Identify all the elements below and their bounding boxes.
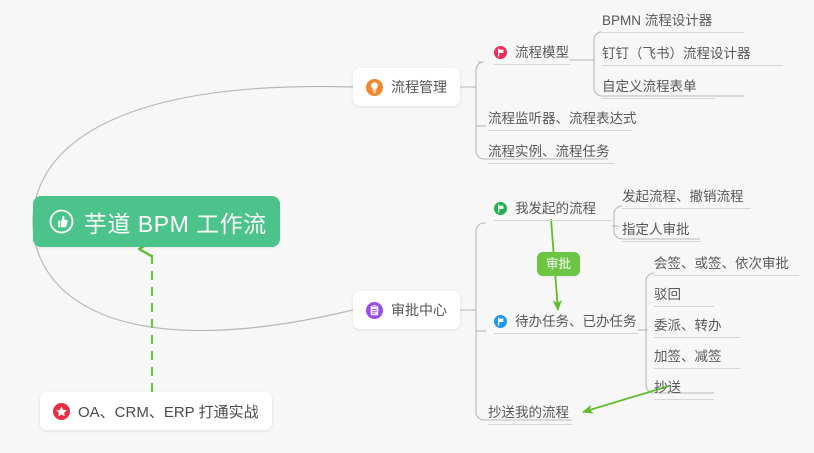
node-zidingyi-biaodan[interactable]: 自定义流程表单 xyxy=(602,78,715,99)
node-label-chaosong-wode-liucheng: 抄送我的流程 xyxy=(488,404,569,421)
node-chaosong-wode-liucheng[interactable]: 抄送我的流程 xyxy=(488,404,572,425)
node-chaosong[interactable]: 抄送 xyxy=(654,379,714,400)
node-jianting-biaodashi[interactable]: 流程监听器、流程表达式 xyxy=(488,110,632,131)
flag-icon xyxy=(494,202,507,215)
node-label-liucheng-moxing: 流程模型 xyxy=(515,44,569,61)
node-label-zidingyi-biaodan: 自定义流程表单 xyxy=(602,78,697,95)
thumbs-up-icon xyxy=(49,209,74,234)
node-label-bohui: 驳回 xyxy=(654,286,681,303)
node-huiqian-huoqian-yici[interactable]: 会签、或签、依次审批 xyxy=(654,255,799,276)
node-label-jianting-biaodashi: 流程监听器、流程表达式 xyxy=(488,110,637,127)
annotation-tag-shenpi-label: 审批 xyxy=(546,257,571,271)
node-wo-faqi-de-liucheng[interactable]: 我发起的流程 xyxy=(494,200,612,221)
node-label-daiban-yiban-renwu: 待办任务、已办任务 xyxy=(515,313,637,330)
node-label-jiaqian-jianqian: 加签、减签 xyxy=(654,348,722,365)
node-label-huiqian-huoqian-yici: 会签、或签、依次审批 xyxy=(654,255,789,272)
node-liucheng-moxing[interactable]: 流程模型 xyxy=(494,44,570,65)
node-bohui[interactable]: 驳回 xyxy=(654,286,714,307)
flag-icon xyxy=(494,46,507,59)
node-jiaqian-jianqian[interactable]: 加签、减签 xyxy=(654,348,740,369)
node-shili-renwu[interactable]: 流程实例、流程任务 xyxy=(488,143,614,164)
node-label-faqi-chexiao: 发起流程、撤销流程 xyxy=(622,188,744,205)
floating-note-label: OA、CRM、ERP 打通实战 xyxy=(78,401,259,422)
node-weipai-zhuanban[interactable]: 委派、转办 xyxy=(654,317,740,338)
mindmap-canvas: 芋道 BPM 工作流 OA、CRM、ERP 打通实战 流程管理 xyxy=(0,0,814,453)
node-label-bpmn-sheji: BPMN 流程设计器 xyxy=(602,12,712,29)
root-label: 芋道 BPM 工作流 xyxy=(84,205,267,239)
star-icon xyxy=(53,403,70,420)
node-label-dingding-feishu-sheji: 钉钉（飞书）流程设计器 xyxy=(602,45,751,62)
flag-icon xyxy=(494,315,507,328)
node-zhidingren-shenpi[interactable]: 指定人审批 xyxy=(622,221,701,242)
lightbulb-icon xyxy=(366,79,383,96)
node-dingding-feishu-sheji[interactable]: 钉钉（飞书）流程设计器 xyxy=(602,45,783,66)
node-label-zhidingren-shenpi: 指定人审批 xyxy=(622,221,690,238)
annotation-tag-shenpi[interactable]: 审批 xyxy=(537,252,580,276)
branch-node-shenpi-zhongxin[interactable]: 审批中心 xyxy=(353,291,460,329)
branch-label-shenpi-zhongxin: 审批中心 xyxy=(391,300,447,320)
node-faqi-chexiao[interactable]: 发起流程、撤销流程 xyxy=(622,188,751,209)
branch-node-liucheng-guanli[interactable]: 流程管理 xyxy=(353,68,460,106)
node-daiban-yiban-renwu[interactable]: 待办任务、已办任务 xyxy=(494,313,638,334)
floating-note-oa-crm-erp[interactable]: OA、CRM、ERP 打通实战 xyxy=(40,392,272,430)
root-node[interactable]: 芋道 BPM 工作流 xyxy=(33,196,280,247)
branch-label-liucheng-guanli: 流程管理 xyxy=(391,77,447,97)
node-bpmn-sheji[interactable]: BPMN 流程设计器 xyxy=(602,12,744,33)
clipboard-icon xyxy=(366,302,383,319)
node-label-weipai-zhuanban: 委派、转办 xyxy=(654,317,722,334)
node-label-wo-faqi-de-liucheng: 我发起的流程 xyxy=(515,200,596,217)
node-label-shili-renwu: 流程实例、流程任务 xyxy=(488,143,610,160)
node-label-chaosong: 抄送 xyxy=(654,379,681,396)
